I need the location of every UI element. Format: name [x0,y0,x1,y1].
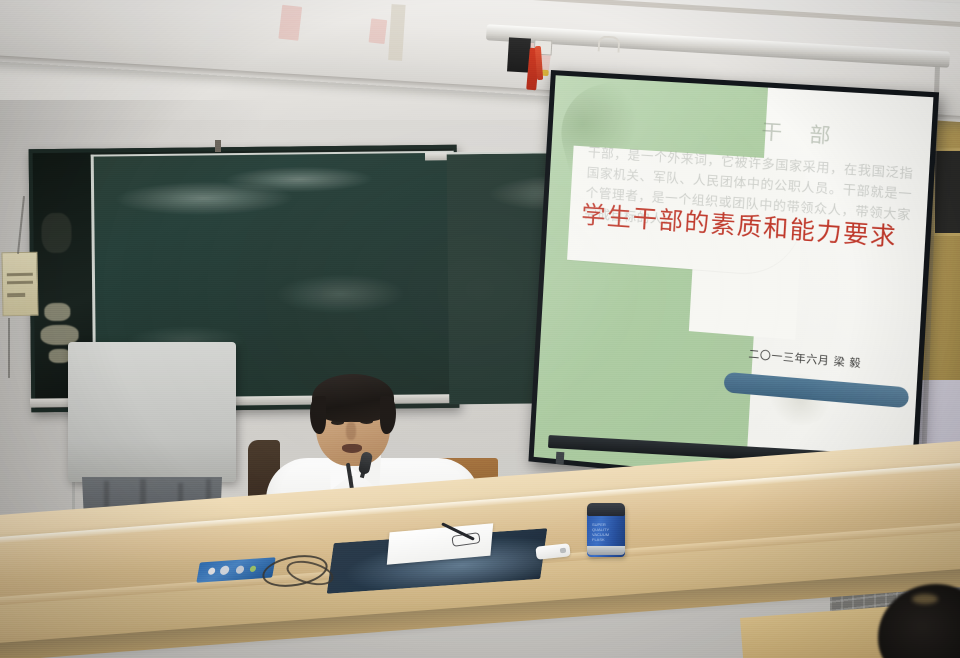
wall-wire-lower [8,318,10,378]
hair-left [310,396,326,434]
thermos-base-band [587,546,625,555]
ceiling-hook-icon [598,35,621,52]
thermos-lid[interactable] [587,503,625,516]
audience-head-highlight [912,594,938,604]
thermos-brand-line-1: SUPER QUALITY [592,522,622,532]
mouth [342,444,362,453]
projection-screen[interactable]: 干 部 干部，是一个外来词，它被许多国家采用，在我国泛指国家机关、军队、人民团体… [528,70,939,499]
nose [346,422,356,440]
thermos-brand-text: SUPER QUALITY VACUUM FLASK [592,522,622,542]
classroom-photo: 干 部 干部，是一个外来词，它被许多国家采用，在我国泛指国家机关、军队、人民团体… [0,0,960,658]
television[interactable] [68,342,236,482]
thermos-brand-line-2: VACUUM FLASK [592,532,622,542]
remote-button[interactable] [560,548,566,554]
hair-right [380,396,396,434]
slide-canvas: 干 部 干部，是一个外来词，它被许多国家采用，在我国泛指国家机关、军队、人民团体… [534,75,934,493]
board-clip [215,140,221,152]
wall-control-box[interactable] [1,252,38,317]
screen-weight-left [556,452,565,464]
